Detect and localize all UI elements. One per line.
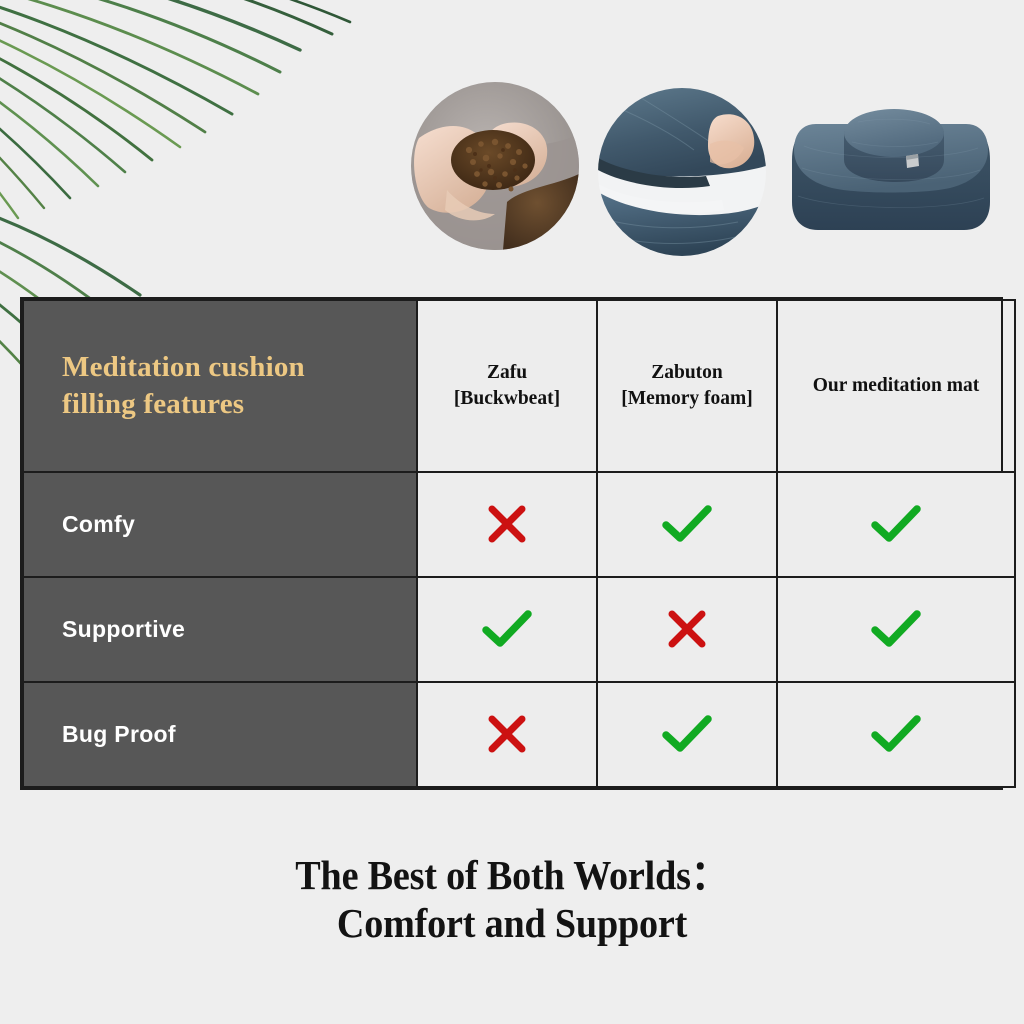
check-icon bbox=[661, 503, 713, 545]
check-icon bbox=[870, 608, 922, 650]
column-header-zabuton-name: Zabuton bbox=[604, 360, 770, 385]
table-row: Bug Proof bbox=[23, 682, 1015, 787]
cross-icon bbox=[485, 712, 529, 756]
cell-comfy-our-mat bbox=[777, 472, 1015, 577]
table-header-row: Meditation cushion filling features Zafu… bbox=[23, 300, 1015, 472]
cell-supportive-our-mat bbox=[777, 577, 1015, 682]
column-header-zabuton: Zabuton [Memory foam] bbox=[597, 300, 777, 472]
row-label-comfy: Comfy bbox=[23, 472, 417, 577]
comparison-table: Meditation cushion filling features Zafu… bbox=[20, 297, 1003, 790]
check-icon bbox=[661, 713, 713, 755]
feature-header-cell: Meditation cushion filling features bbox=[23, 300, 417, 472]
photo-buckwheat-hulls bbox=[411, 82, 579, 250]
check-icon bbox=[870, 713, 922, 755]
row-label-supportive: Supportive bbox=[23, 577, 417, 682]
table-row: Comfy bbox=[23, 472, 1015, 577]
cross-icon bbox=[665, 607, 709, 651]
cell-bug-proof-our-mat bbox=[777, 682, 1015, 787]
cell-supportive-zafu bbox=[417, 577, 597, 682]
cell-comfy-zafu bbox=[417, 472, 597, 577]
column-header-zafu: Zafu [Buckwbeat] bbox=[417, 300, 597, 472]
column-header-zafu-name: Zafu bbox=[424, 360, 590, 385]
column-header-our-mat: Our meditation mat bbox=[777, 300, 1015, 472]
row-label-bug-proof: Bug Proof bbox=[23, 682, 417, 787]
feature-header-line-1: Meditation cushion bbox=[62, 349, 416, 386]
check-icon bbox=[870, 503, 922, 545]
photo-meditation-cushion-set bbox=[778, 86, 1003, 256]
infographic-page: Meditation cushion filling features Zafu… bbox=[0, 0, 1024, 1024]
table-row: Supportive bbox=[23, 577, 1015, 682]
headline-line-2: Comfort and Support bbox=[36, 900, 988, 948]
cell-supportive-zabuton bbox=[597, 577, 777, 682]
column-header-zabuton-detail: [Memory foam] bbox=[604, 386, 770, 411]
cell-bug-proof-zafu bbox=[417, 682, 597, 787]
column-header-our-mat-name: Our meditation mat bbox=[784, 373, 1008, 398]
page-headline: The Best of Both Worlds： Comfort and Sup… bbox=[36, 852, 988, 948]
photo-cover-memory-foam bbox=[598, 88, 766, 256]
column-header-zafu-detail: [Buckwbeat] bbox=[424, 386, 590, 411]
cross-icon bbox=[485, 502, 529, 546]
check-icon bbox=[481, 608, 533, 650]
cell-bug-proof-zabuton bbox=[597, 682, 777, 787]
headline-line-1: The Best of Both Worlds： bbox=[36, 852, 988, 900]
cell-comfy-zabuton bbox=[597, 472, 777, 577]
palm-leaf-icon bbox=[0, 0, 360, 242]
feature-header-line-2: filling features bbox=[62, 386, 416, 423]
